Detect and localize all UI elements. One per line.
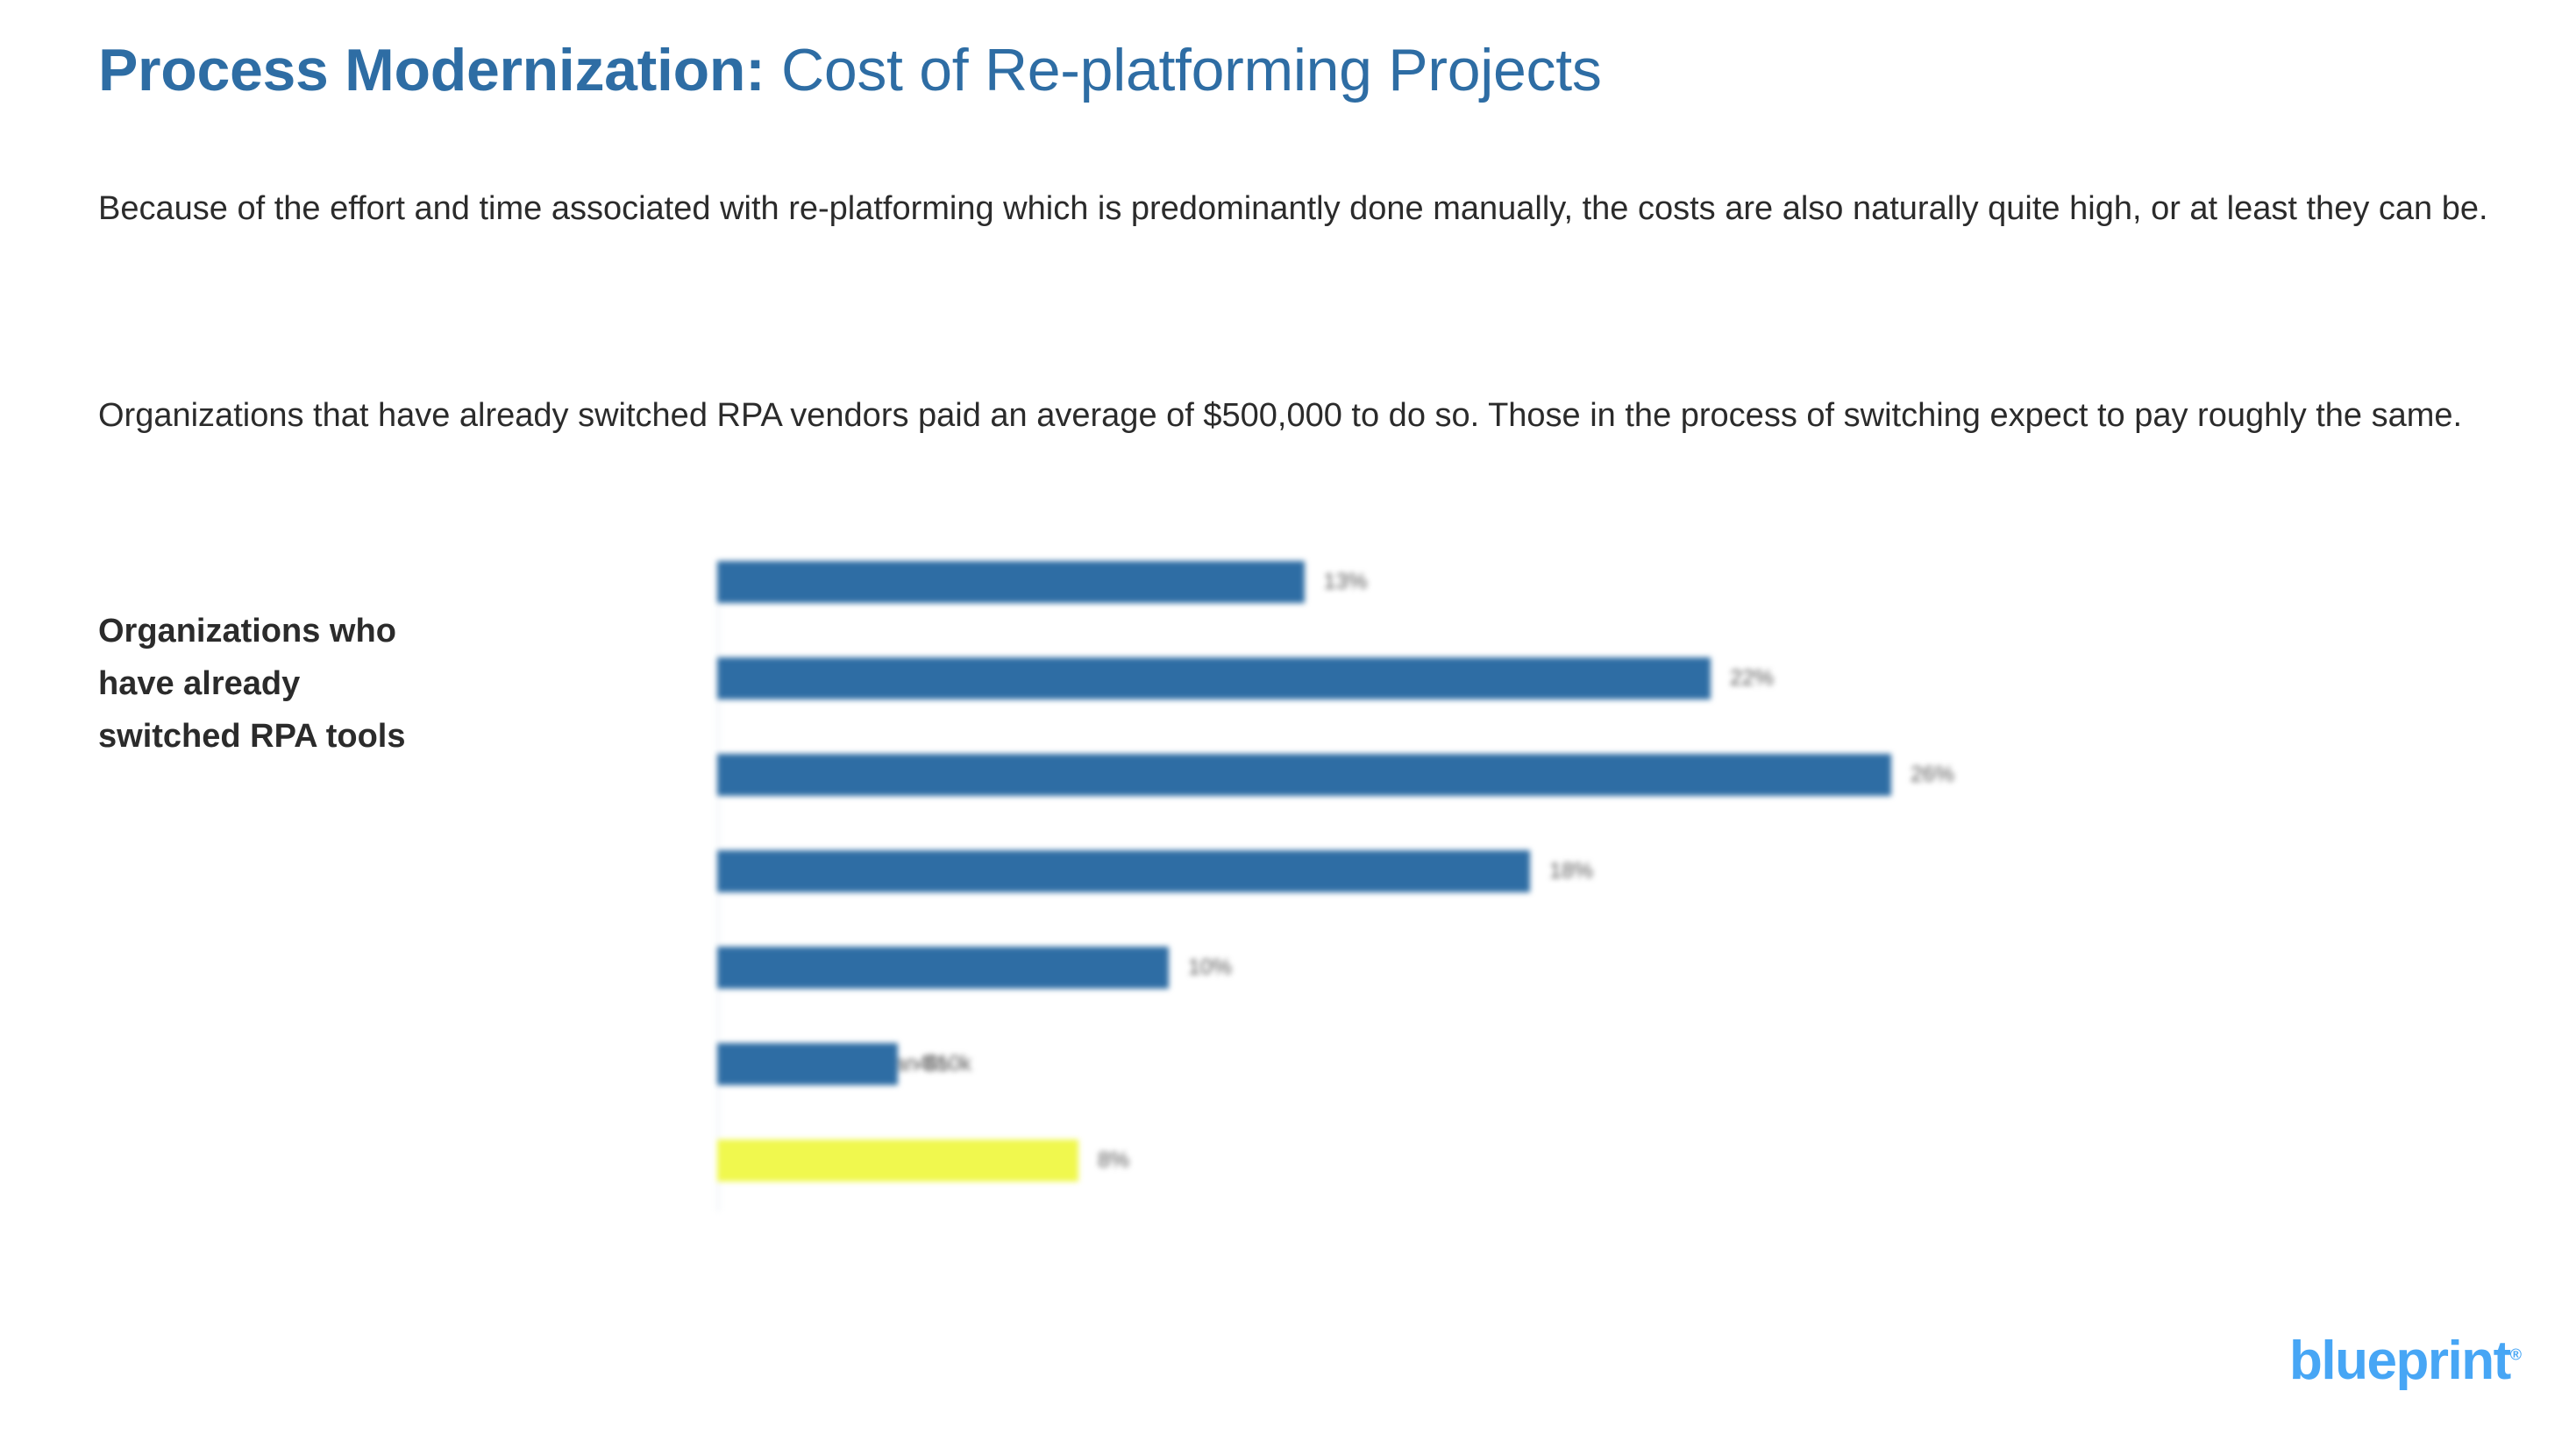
logo-wordmark: blueprint	[2289, 1331, 2510, 1391]
bar-value-label: 18%	[1549, 859, 1593, 884]
bar	[717, 657, 1711, 699]
bar-row: $50k - $99k18%	[473, 850, 2052, 892]
body-paragraph-1: Because of the effort and time associate…	[98, 182, 2518, 237]
bar	[717, 561, 1305, 603]
bar-track: 4%	[717, 1043, 2052, 1085]
slide: Process Modernization: Cost of Re-platfo…	[0, 0, 2576, 1434]
bar-chart: $1 million +13%$500k - $999k22%$100k - $…	[473, 561, 2052, 1253]
bar-row: $500k - $999k22%	[473, 657, 2052, 699]
bar-row: $1 million +13%	[473, 561, 2052, 603]
bar	[717, 850, 1530, 892]
bar-row: $100k - $499k26%	[473, 754, 2052, 796]
bar-value-label: 8%	[1098, 1148, 1129, 1174]
bar-track: 8%	[717, 1139, 2052, 1182]
chart-caption: Organizations who have already switched …	[98, 605, 414, 763]
bar-value-label: 13%	[1324, 570, 1368, 595]
registered-mark-icon: ®	[2510, 1345, 2522, 1363]
body-paragraph-2: Organizations that have already switched…	[98, 389, 2518, 444]
bar-track: 10%	[717, 947, 2052, 989]
bar-track: 22%	[717, 657, 2052, 699]
bar-value-label: 22%	[1730, 666, 1774, 692]
bar-track: 18%	[717, 850, 2052, 892]
bar-track: 13%	[717, 561, 2052, 603]
bar	[717, 754, 1891, 796]
bar-row: I don't know8%	[473, 1139, 2052, 1182]
bar-row: $10k - $49k10%	[473, 947, 2052, 989]
bar-value-label: 10%	[1188, 955, 1232, 981]
bar-value-label: 26%	[1911, 763, 1954, 788]
bar-track: 26%	[717, 754, 2052, 796]
bar	[717, 1139, 1078, 1182]
blueprint-logo: blueprint®	[2289, 1334, 2522, 1388]
bar	[717, 947, 1169, 989]
bar	[717, 1043, 898, 1085]
page-title-light: Cost of Re-platforming Projects	[765, 37, 1601, 103]
page-title: Process Modernization: Cost of Re-platfo…	[98, 37, 1602, 103]
page-title-strong: Process Modernization:	[98, 37, 765, 103]
bar-row: Less than $10k4%	[473, 1043, 2052, 1085]
bar-value-label: 4%	[917, 1052, 949, 1077]
